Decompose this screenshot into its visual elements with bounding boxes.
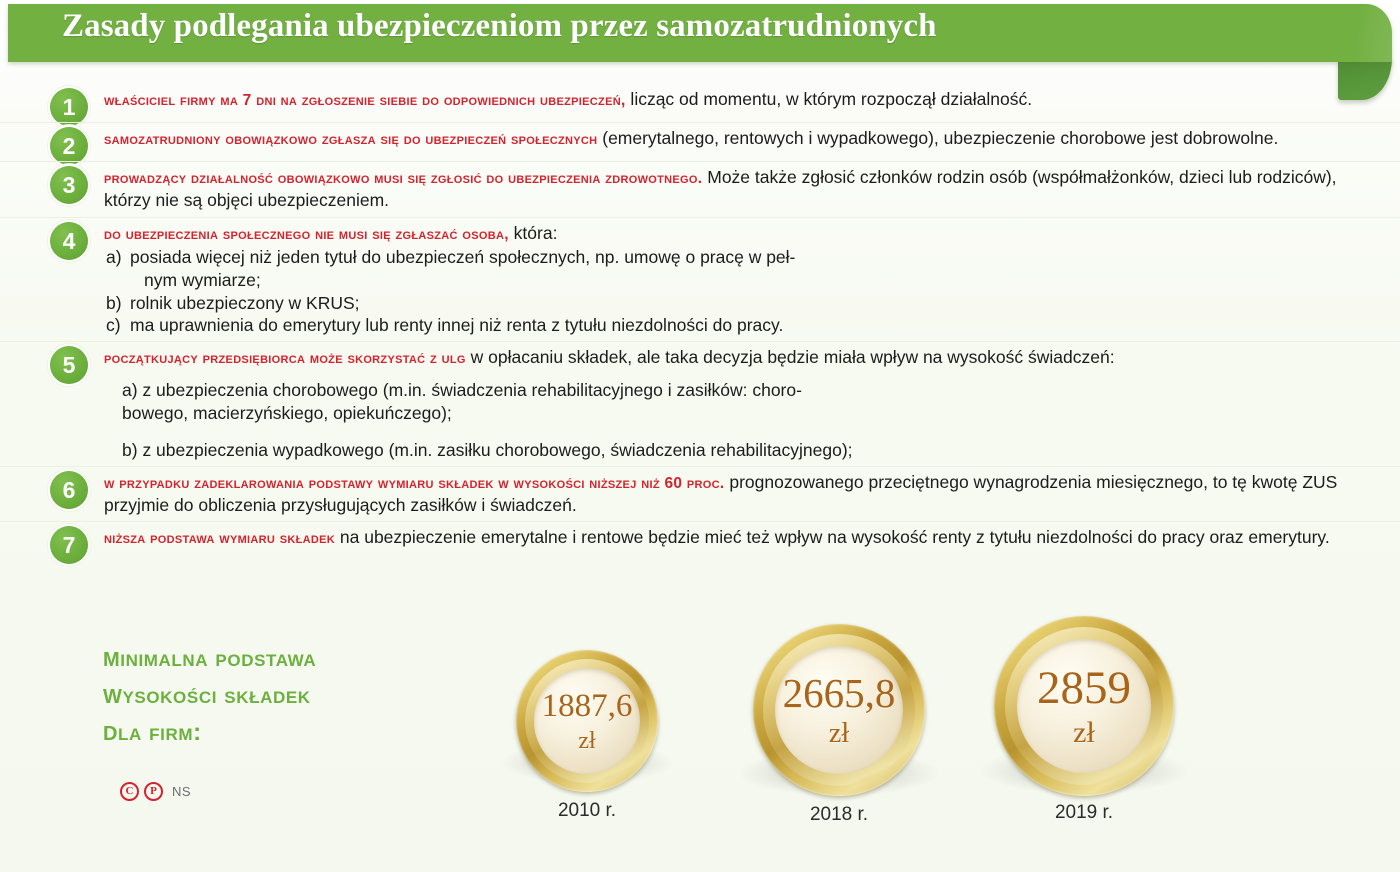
minimum-base-label-line-1: Minimalna podstawa: [103, 639, 316, 676]
subitem-line-continued: bowego, macierzyńskiego, opiekuńczego);: [122, 402, 1376, 425]
rule-item-1: 1 Właściciel firmy ma 7 dni na zgłoszeni…: [0, 84, 1400, 122]
subitem-marker: a): [106, 246, 122, 269]
rule-text: Właściciel firmy ma 7 dni na zgłoszenie …: [104, 88, 1376, 111]
rule-rest-text: (emerytalnego, rentowych i wypadkowego),…: [597, 128, 1278, 148]
rule-item-5: 5 Początkujący przedsiębiorca może skorz…: [0, 341, 1400, 466]
rule-rest-text: która:: [509, 223, 558, 243]
copyright-credit: C P NS: [120, 782, 191, 801]
subitem-line: posiada więcej niż jeden tytuł do ubezpi…: [130, 246, 1376, 269]
rule-lead-text: Niższa podstawa wymiaru składek: [104, 530, 335, 547]
minimum-base-label-line-2: wysokości składek: [103, 676, 316, 713]
coin-value: 2665,8: [783, 673, 896, 714]
rule-text: Początkujący przedsiębiorca może skorzys…: [104, 346, 1376, 462]
rule-sublist: a) posiada więcej niż jeden tytuł do ube…: [104, 246, 1376, 337]
rule-number-badge: 4: [50, 222, 88, 260]
rule-item-6: 6 W przypadku zadeklarowania podstawy wy…: [0, 466, 1400, 522]
rule-lead-text: Prowadzący działalność obowiązkowo musi …: [104, 170, 702, 187]
rule-subitem: a) z ubezpieczenia chorobowego (m.in. św…: [104, 379, 1376, 425]
coin-face: 2665,8 zł: [775, 646, 902, 773]
coin-unit: zł: [578, 729, 595, 753]
coin-face: 2859 zł: [1017, 639, 1150, 772]
coin-face: 1887,6 zł: [534, 668, 639, 773]
subitem-text: z ubezpieczenia wypadkowego (m.in. zasił…: [142, 440, 852, 460]
coin-value: 1887,6: [542, 690, 633, 723]
rule-subitem: b) rolnik ubezpieczony w KRUS;: [104, 292, 1376, 315]
rule-subitem: b) z ubezpieczenia wypadkowego (m.in. za…: [104, 439, 1376, 462]
page-title: Zasady podlegania ubezpieczeniom przez s…: [62, 8, 937, 45]
rule-lead-text: Samozatrudniony obowiązkowo zgłasza się …: [104, 131, 597, 148]
coin-unit: zł: [1073, 718, 1095, 748]
subitem-text: z ubezpieczenia chorobowego (m.in. świad…: [142, 380, 802, 400]
coin-group-2019: 2859 zł 2019 r.: [994, 624, 1174, 796]
phonogram-icon: P: [144, 782, 163, 801]
rule-number-badge: 7: [50, 526, 88, 564]
coin-2019: 2859 zł: [994, 616, 1174, 796]
minimum-base-section: Minimalna podstawa wysokości składek dla…: [0, 624, 1400, 834]
minimum-base-label-line-3: dla firm:: [103, 713, 316, 750]
rule-subitem: c) ma uprawnienia do emerytury lub renty…: [104, 314, 1376, 337]
rule-rest-text: w opłacaniu składek, ale taka decyzja bę…: [466, 347, 1115, 367]
rule-text: W przypadku zadeklarowania podstawy wymi…: [104, 471, 1376, 518]
subitem-line: b) z ubezpieczenia wypadkowego (m.in. za…: [122, 439, 1376, 462]
rules-list: 1 Właściciel firmy ma 7 dni na zgłoszeni…: [0, 84, 1400, 560]
rule-text: Niższa podstawa wymiaru składek na ubezp…: [104, 526, 1376, 549]
rule-lead-text: Do ubezpieczenia społecznego nie musi si…: [104, 226, 509, 243]
rule-rest-text: licząc od momentu, w którym rozpoczął dz…: [626, 89, 1033, 109]
rule-sublist: a) z ubezpieczenia chorobowego (m.in. św…: [104, 379, 1376, 461]
rule-number-badge: 2: [50, 127, 88, 165]
rule-number-badge: 6: [50, 471, 88, 509]
rule-text: Prowadzący działalność obowiązkowo musi …: [104, 166, 1376, 213]
copyright-icon: C: [120, 782, 139, 801]
rule-text: Samozatrudniony obowiązkowo zgłasza się …: [104, 127, 1376, 150]
rule-item-7: 7 Niższa podstawa wymiaru składek na ube…: [0, 521, 1400, 560]
coin-group-2018: 2665,8 zł 2018 r.: [753, 624, 925, 796]
rule-item-4: 4 Do ubezpieczenia społecznego nie musi …: [0, 217, 1400, 341]
rule-lead-text: Początkujący przedsiębiorca może skorzys…: [104, 350, 466, 367]
subitem-marker: a): [122, 380, 138, 400]
coin-group-2010: 1887,6 zł 2010 r.: [516, 624, 658, 792]
rule-item-3: 3 Prowadzący działalność obowiązkowo mus…: [0, 161, 1400, 217]
subitem-marker: b): [122, 440, 138, 460]
coin-caption-2010: 2010 r.: [558, 800, 616, 822]
subitem-line-continued: nym wymiarze;: [130, 269, 1376, 292]
rule-item-2: 2 Samozatrudniony obowiązkowo zgłasza si…: [0, 122, 1400, 161]
rule-lead-text: W przypadku zadeklarowania podstawy wymi…: [104, 475, 724, 492]
minimum-base-label: Minimalna podstawa wysokości składek dla…: [103, 639, 316, 750]
subitem-line: a) z ubezpieczenia chorobowego (m.in. św…: [122, 379, 1376, 402]
infographic-page: Zasady podlegania ubezpieczeniom przez s…: [0, 0, 1400, 872]
subitem-marker: b): [106, 292, 122, 315]
coin-value: 2859: [1037, 665, 1131, 712]
subitem-line: ma uprawnienia do emerytury lub renty in…: [130, 314, 1376, 337]
coin-unit: zł: [829, 720, 849, 748]
coin-2018: 2665,8 zł: [753, 624, 925, 796]
rule-number-badge: 3: [50, 166, 88, 204]
coin-caption-2019: 2019 r.: [1055, 802, 1113, 824]
rule-number-badge: 5: [50, 346, 88, 384]
subitem-marker: c): [106, 314, 121, 337]
rule-lead-text: Właściciel firmy ma 7 dni na zgłoszenie …: [104, 92, 626, 109]
coin-2010: 1887,6 zł: [516, 650, 658, 792]
rule-subitem: a) posiada więcej niż jeden tytuł do ube…: [104, 246, 1376, 292]
rule-rest-text: na ubezpieczenie emerytalne i rentowe bę…: [335, 527, 1330, 547]
coin-caption-2018: 2018 r.: [810, 804, 868, 826]
subitem-line: rolnik ubezpieczony w KRUS;: [130, 292, 1376, 315]
rule-text: Do ubezpieczenia społecznego nie musi si…: [104, 222, 1376, 337]
credit-label: NS: [172, 784, 191, 799]
rule-number-badge: 1: [50, 88, 88, 126]
